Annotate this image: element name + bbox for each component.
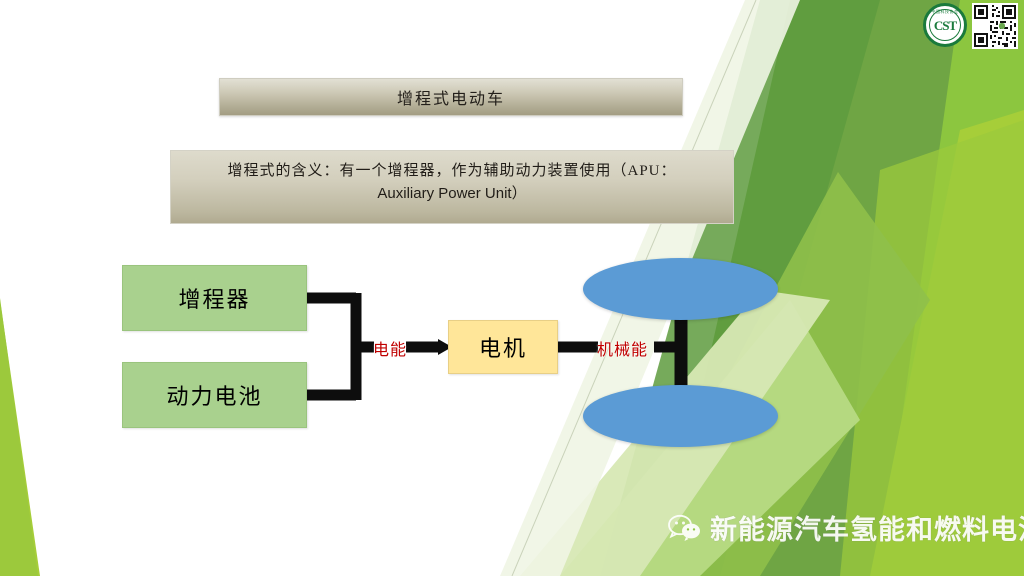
bg-shape-lime-right (870, 110, 1024, 576)
description-box: 增程式的含义：有一个增程器，作为辅助动力装置使用（APU： Auxiliary … (170, 150, 734, 224)
watermark: 新能源汽车氢能和燃料电池 (668, 508, 1024, 547)
page-title: 增程式电动车 (397, 85, 505, 109)
wheel-front (583, 258, 778, 320)
wheel-rear (583, 385, 778, 447)
label-electric-energy: 电能 (373, 336, 407, 360)
node-motor-label: 电机 (479, 331, 527, 363)
slide-canvas: 中国科技协会 CST (0, 0, 1024, 576)
node-motor[interactable]: 电机 (448, 320, 558, 374)
node-power-battery-label: 动力电池 (166, 379, 262, 411)
logo-mark-text: CST (934, 19, 956, 32)
bg-shape-bottom-left (0, 300, 40, 576)
wechat-icon (668, 513, 702, 543)
logo-arc-top: 中国科技协会 (926, 9, 964, 15)
node-range-extender[interactable]: 增程器 (122, 265, 307, 331)
qr-code-svg (974, 5, 1016, 47)
organization-logo: 中国科技协会 CST (923, 3, 967, 47)
slide-title-bar: 增程式电动车 (219, 78, 683, 116)
description-line-1: 增程式的含义：有一个增程器，作为辅助动力装置使用（APU： (189, 161, 715, 183)
source-bracket (300, 293, 356, 400)
qr-code-icon[interactable] (972, 3, 1018, 49)
node-range-extender-label: 增程器 (178, 282, 250, 314)
badge-group: 中国科技协会 CST (923, 3, 1018, 49)
description-line-2: Auxiliary Power Unit） (189, 183, 715, 206)
node-power-battery[interactable]: 动力电池 (122, 362, 307, 428)
label-mechanical-energy: 机械能 (597, 336, 648, 360)
watermark-text: 新能源汽车氢能和燃料电池 (710, 508, 1024, 547)
bg-shape-bottom-left-2 (0, 298, 38, 576)
